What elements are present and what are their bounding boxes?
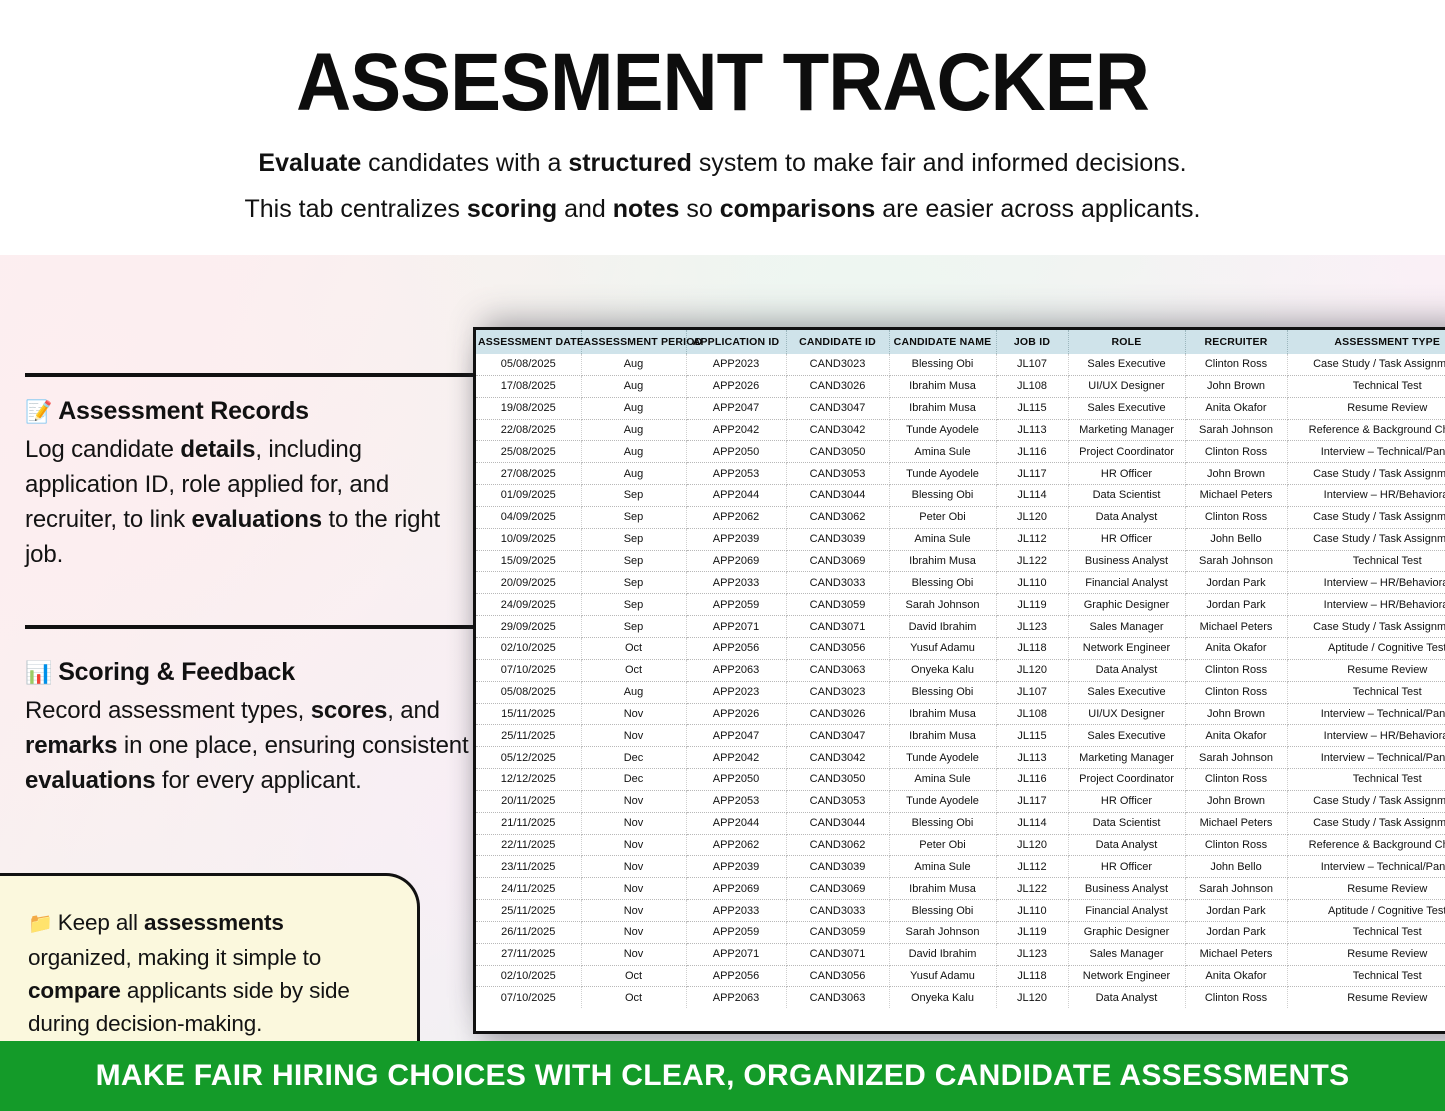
cell-4[interactable]: CAND3069 [786, 878, 889, 900]
cell-5[interactable]: Tunde Ayodele [889, 463, 996, 485]
cell-3[interactable]: APP2039 [686, 528, 786, 550]
cell-1[interactable]: 07/10/2025 [476, 987, 581, 1008]
cell-5[interactable]: Blessing Obi [889, 572, 996, 594]
cell-5[interactable]: Blessing Obi [889, 354, 996, 375]
cell-8[interactable]: Clinton Ross [1185, 506, 1287, 528]
cell-7[interactable]: Data Analyst [1068, 987, 1185, 1008]
cell-6[interactable]: JL114 [996, 812, 1068, 834]
cell-3[interactable]: APP2053 [686, 463, 786, 485]
cell-7[interactable]: Marketing Manager [1068, 419, 1185, 441]
cell-9[interactable]: Technical Test [1287, 769, 1445, 791]
cell-6[interactable]: JL116 [996, 441, 1068, 463]
cell-2[interactable]: Aug [581, 354, 686, 375]
cell-5[interactable]: Blessing Obi [889, 900, 996, 922]
cell-8[interactable]: Clinton Ross [1185, 441, 1287, 463]
cell-6[interactable]: JL110 [996, 900, 1068, 922]
cell-4[interactable]: CAND3053 [786, 463, 889, 485]
cell-5[interactable]: David Ibrahim [889, 616, 996, 638]
cell-3[interactable]: APP2047 [686, 725, 786, 747]
cell-2[interactable]: Oct [581, 659, 686, 681]
cell-1[interactable]: 07/10/2025 [476, 659, 581, 681]
cell-8[interactable]: Anita Okafor [1185, 397, 1287, 419]
cell-8[interactable]: Michael Peters [1185, 943, 1287, 965]
cell-4[interactable]: CAND3033 [786, 900, 889, 922]
cell-7[interactable]: Project Coordinator [1068, 769, 1185, 791]
cell-6[interactable]: JL118 [996, 637, 1068, 659]
cell-4[interactable]: CAND3023 [786, 354, 889, 375]
column-header-1[interactable]: ASSESSMENT DATE [476, 330, 581, 354]
cell-2[interactable]: Sep [581, 616, 686, 638]
cell-7[interactable]: Project Coordinator [1068, 441, 1185, 463]
column-header-9[interactable]: ASSESSMENT TYPE [1287, 330, 1445, 354]
table-row[interactable]: 25/08/2025AugAPP2050CAND3050Amina SuleJL… [476, 441, 1445, 463]
cell-5[interactable]: Ibrahim Musa [889, 550, 996, 572]
cell-2[interactable]: Nov [581, 725, 686, 747]
cell-7[interactable]: HR Officer [1068, 790, 1185, 812]
cell-4[interactable]: CAND3042 [786, 419, 889, 441]
column-header-7[interactable]: ROLE [1068, 330, 1185, 354]
cell-2[interactable]: Aug [581, 441, 686, 463]
table-row[interactable]: 07/10/2025OctAPP2063CAND3063Onyeka KaluJ… [476, 987, 1445, 1008]
cell-1[interactable]: 15/11/2025 [476, 703, 581, 725]
cell-4[interactable]: CAND3071 [786, 943, 889, 965]
cell-4[interactable]: CAND3039 [786, 856, 889, 878]
cell-9[interactable]: Interview – HR/Behavioral [1287, 725, 1445, 747]
cell-6[interactable]: JL123 [996, 616, 1068, 638]
table-row[interactable]: 05/08/2025AugAPP2023CAND3023Blessing Obi… [476, 681, 1445, 703]
cell-5[interactable]: Ibrahim Musa [889, 725, 996, 747]
cell-9[interactable]: Interview – Technical/Panel [1287, 703, 1445, 725]
table-row[interactable]: 26/11/2025NovAPP2059CAND3059Sarah Johnso… [476, 921, 1445, 943]
cell-2[interactable]: Aug [581, 463, 686, 485]
cell-5[interactable]: Peter Obi [889, 506, 996, 528]
cell-2[interactable]: Nov [581, 900, 686, 922]
cell-4[interactable]: CAND3023 [786, 681, 889, 703]
cell-1[interactable]: 25/11/2025 [476, 725, 581, 747]
cell-5[interactable]: Sarah Johnson [889, 921, 996, 943]
cell-1[interactable]: 24/09/2025 [476, 594, 581, 616]
cell-6[interactable]: JL115 [996, 725, 1068, 747]
table-body[interactable]: 05/08/2025AugAPP2023CAND3023Blessing Obi… [476, 354, 1445, 1008]
table-row[interactable]: 24/11/2025NovAPP2069CAND3069Ibrahim Musa… [476, 878, 1445, 900]
cell-7[interactable]: HR Officer [1068, 463, 1185, 485]
cell-4[interactable]: CAND3056 [786, 637, 889, 659]
cell-3[interactable]: APP2059 [686, 594, 786, 616]
table-row[interactable]: 19/08/2025AugAPP2047CAND3047Ibrahim Musa… [476, 397, 1445, 419]
cell-8[interactable]: John Brown [1185, 375, 1287, 397]
cell-3[interactable]: APP2044 [686, 485, 786, 507]
table-row[interactable]: 24/09/2025SepAPP2059CAND3059Sarah Johnso… [476, 594, 1445, 616]
cell-2[interactable]: Nov [581, 943, 686, 965]
cell-1[interactable]: 01/09/2025 [476, 485, 581, 507]
cell-1[interactable]: 22/08/2025 [476, 419, 581, 441]
cell-2[interactable]: Aug [581, 397, 686, 419]
table-row[interactable]: 21/11/2025NovAPP2044CAND3044Blessing Obi… [476, 812, 1445, 834]
cell-6[interactable]: JL117 [996, 790, 1068, 812]
cell-3[interactable]: APP2056 [686, 965, 786, 987]
cell-6[interactable]: JL120 [996, 987, 1068, 1008]
cell-6[interactable]: JL110 [996, 572, 1068, 594]
cell-6[interactable]: JL114 [996, 485, 1068, 507]
cell-4[interactable]: CAND3059 [786, 594, 889, 616]
cell-7[interactable]: Sales Manager [1068, 943, 1185, 965]
cell-3[interactable]: APP2033 [686, 572, 786, 594]
cell-9[interactable]: Resume Review [1287, 943, 1445, 965]
cell-8[interactable]: John Bello [1185, 856, 1287, 878]
cell-5[interactable]: Tunde Ayodele [889, 419, 996, 441]
cell-4[interactable]: CAND3062 [786, 834, 889, 856]
cell-7[interactable]: Data Analyst [1068, 659, 1185, 681]
cell-9[interactable]: Technical Test [1287, 681, 1445, 703]
cell-1[interactable]: 04/09/2025 [476, 506, 581, 528]
cell-6[interactable]: JL107 [996, 681, 1068, 703]
cell-4[interactable]: CAND3026 [786, 375, 889, 397]
cell-2[interactable]: Oct [581, 965, 686, 987]
cell-5[interactable]: Yusuf Adamu [889, 637, 996, 659]
table-row[interactable]: 01/09/2025SepAPP2044CAND3044Blessing Obi… [476, 485, 1445, 507]
cell-5[interactable]: Sarah Johnson [889, 594, 996, 616]
cell-8[interactable]: Clinton Ross [1185, 987, 1287, 1008]
cell-1[interactable]: 05/08/2025 [476, 681, 581, 703]
cell-4[interactable]: CAND3062 [786, 506, 889, 528]
cell-2[interactable]: Nov [581, 921, 686, 943]
cell-9[interactable]: Case Study / Task Assignment [1287, 528, 1445, 550]
cell-1[interactable]: 27/08/2025 [476, 463, 581, 485]
assessment-table[interactable]: ASSESSMENT DATEASSESSMENT PERIODAPPLICAT… [476, 330, 1445, 1008]
cell-7[interactable]: Sales Executive [1068, 681, 1185, 703]
cell-2[interactable]: Sep [581, 572, 686, 594]
cell-9[interactable]: Technical Test [1287, 550, 1445, 572]
table-row[interactable]: 27/11/2025NovAPP2071CAND3071David Ibrahi… [476, 943, 1445, 965]
cell-7[interactable]: HR Officer [1068, 528, 1185, 550]
table-row[interactable]: 22/11/2025NovAPP2062CAND3062Peter ObiJL1… [476, 834, 1445, 856]
cell-9[interactable]: Aptitude / Cognitive Test [1287, 900, 1445, 922]
cell-5[interactable]: Tunde Ayodele [889, 747, 996, 769]
cell-1[interactable]: 21/11/2025 [476, 812, 581, 834]
cell-9[interactable]: Interview – HR/Behavioral [1287, 572, 1445, 594]
column-header-8[interactable]: RECRUITER [1185, 330, 1287, 354]
cell-7[interactable]: Marketing Manager [1068, 747, 1185, 769]
cell-8[interactable]: Sarah Johnson [1185, 550, 1287, 572]
cell-5[interactable]: Amina Sule [889, 769, 996, 791]
cell-9[interactable]: Case Study / Task Assignment [1287, 616, 1445, 638]
cell-9[interactable]: Resume Review [1287, 878, 1445, 900]
table-row[interactable]: 07/10/2025OctAPP2063CAND3063Onyeka KaluJ… [476, 659, 1445, 681]
cell-3[interactable]: APP2071 [686, 943, 786, 965]
cell-5[interactable]: Blessing Obi [889, 681, 996, 703]
cell-3[interactable]: APP2062 [686, 834, 786, 856]
cell-9[interactable]: Technical Test [1287, 921, 1445, 943]
cell-3[interactable]: APP2033 [686, 900, 786, 922]
cell-5[interactable]: Yusuf Adamu [889, 965, 996, 987]
cell-5[interactable]: Blessing Obi [889, 485, 996, 507]
cell-7[interactable]: Business Analyst [1068, 550, 1185, 572]
table-row[interactable]: 05/08/2025AugAPP2023CAND3023Blessing Obi… [476, 354, 1445, 375]
cell-6[interactable]: JL119 [996, 594, 1068, 616]
table-row[interactable]: 20/11/2025NovAPP2053CAND3053Tunde Ayodel… [476, 790, 1445, 812]
cell-4[interactable]: CAND3039 [786, 528, 889, 550]
cell-9[interactable]: Resume Review [1287, 659, 1445, 681]
table-row[interactable]: 20/09/2025SepAPP2033CAND3033Blessing Obi… [476, 572, 1445, 594]
cell-9[interactable]: Case Study / Task Assignment [1287, 790, 1445, 812]
cell-6[interactable]: JL112 [996, 528, 1068, 550]
table-row[interactable]: 04/09/2025SepAPP2062CAND3062Peter ObiJL1… [476, 506, 1445, 528]
cell-2[interactable]: Dec [581, 747, 686, 769]
cell-9[interactable]: Technical Test [1287, 375, 1445, 397]
cell-1[interactable]: 19/08/2025 [476, 397, 581, 419]
cell-6[interactable]: JL107 [996, 354, 1068, 375]
cell-7[interactable]: UI/UX Designer [1068, 375, 1185, 397]
table-row[interactable]: 15/11/2025NovAPP2026CAND3026Ibrahim Musa… [476, 703, 1445, 725]
cell-3[interactable]: APP2050 [686, 441, 786, 463]
cell-8[interactable]: John Brown [1185, 463, 1287, 485]
cell-1[interactable]: 15/09/2025 [476, 550, 581, 572]
cell-6[interactable]: JL108 [996, 375, 1068, 397]
cell-3[interactable]: APP2059 [686, 921, 786, 943]
cell-4[interactable]: CAND3044 [786, 812, 889, 834]
cell-9[interactable]: Aptitude / Cognitive Test [1287, 637, 1445, 659]
column-header-6[interactable]: JOB ID [996, 330, 1068, 354]
cell-7[interactable]: Data Analyst [1068, 834, 1185, 856]
cell-8[interactable]: Michael Peters [1185, 485, 1287, 507]
cell-3[interactable]: APP2042 [686, 747, 786, 769]
cell-9[interactable]: Case Study / Task Assignment [1287, 812, 1445, 834]
cell-6[interactable]: JL113 [996, 419, 1068, 441]
cell-8[interactable]: Clinton Ross [1185, 834, 1287, 856]
cell-8[interactable]: John Brown [1185, 790, 1287, 812]
cell-2[interactable]: Nov [581, 878, 686, 900]
cell-3[interactable]: APP2063 [686, 659, 786, 681]
cell-7[interactable]: Network Engineer [1068, 637, 1185, 659]
cell-9[interactable]: Reference & Background Check [1287, 834, 1445, 856]
cell-4[interactable]: CAND3063 [786, 987, 889, 1008]
cell-3[interactable]: APP2023 [686, 354, 786, 375]
cell-5[interactable]: Ibrahim Musa [889, 878, 996, 900]
cell-3[interactable]: APP2069 [686, 878, 786, 900]
cell-4[interactable]: CAND3063 [786, 659, 889, 681]
cell-9[interactable]: Case Study / Task Assignment [1287, 506, 1445, 528]
cell-3[interactable]: APP2047 [686, 397, 786, 419]
cell-2[interactable]: Nov [581, 812, 686, 834]
cell-1[interactable]: 10/09/2025 [476, 528, 581, 550]
cell-2[interactable]: Aug [581, 375, 686, 397]
cell-6[interactable]: JL108 [996, 703, 1068, 725]
cell-1[interactable]: 22/11/2025 [476, 834, 581, 856]
cell-3[interactable]: APP2071 [686, 616, 786, 638]
cell-3[interactable]: APP2056 [686, 637, 786, 659]
cell-6[interactable]: JL123 [996, 943, 1068, 965]
cell-8[interactable]: Michael Peters [1185, 812, 1287, 834]
cell-3[interactable]: APP2069 [686, 550, 786, 572]
cell-8[interactable]: Sarah Johnson [1185, 419, 1287, 441]
cell-7[interactable]: Sales Executive [1068, 725, 1185, 747]
cell-2[interactable]: Sep [581, 594, 686, 616]
cell-6[interactable]: JL116 [996, 769, 1068, 791]
table-row[interactable]: 29/09/2025SepAPP2071CAND3071David Ibrahi… [476, 616, 1445, 638]
table-row[interactable]: 27/08/2025AugAPP2053CAND3053Tunde Ayodel… [476, 463, 1445, 485]
cell-6[interactable]: JL120 [996, 659, 1068, 681]
table-row[interactable]: 17/08/2025AugAPP2026CAND3026Ibrahim Musa… [476, 375, 1445, 397]
table-row[interactable]: 23/11/2025NovAPP2039CAND3039Amina SuleJL… [476, 856, 1445, 878]
cell-1[interactable]: 05/12/2025 [476, 747, 581, 769]
cell-5[interactable]: Tunde Ayodele [889, 790, 996, 812]
cell-9[interactable]: Case Study / Task Assignment [1287, 463, 1445, 485]
cell-8[interactable]: Sarah Johnson [1185, 878, 1287, 900]
cell-3[interactable]: APP2039 [686, 856, 786, 878]
cell-3[interactable]: APP2063 [686, 987, 786, 1008]
cell-3[interactable]: APP2042 [686, 419, 786, 441]
cell-4[interactable]: CAND3047 [786, 397, 889, 419]
cell-2[interactable]: Aug [581, 681, 686, 703]
cell-7[interactable]: Business Analyst [1068, 878, 1185, 900]
cell-4[interactable]: CAND3033 [786, 572, 889, 594]
column-header-3[interactable]: APPLICATION ID [686, 330, 786, 354]
cell-7[interactable]: Sales Executive [1068, 397, 1185, 419]
table-row[interactable]: 15/09/2025SepAPP2069CAND3069Ibrahim Musa… [476, 550, 1445, 572]
cell-9[interactable]: Technical Test [1287, 965, 1445, 987]
table-row[interactable]: 22/08/2025AugAPP2042CAND3042Tunde Ayodel… [476, 419, 1445, 441]
cell-5[interactable]: David Ibrahim [889, 943, 996, 965]
cell-3[interactable]: APP2050 [686, 769, 786, 791]
cell-2[interactable]: Nov [581, 856, 686, 878]
cell-7[interactable]: Data Scientist [1068, 485, 1185, 507]
cell-5[interactable]: Amina Sule [889, 856, 996, 878]
cell-4[interactable]: CAND3053 [786, 790, 889, 812]
cell-2[interactable]: Sep [581, 528, 686, 550]
cell-8[interactable]: Jordan Park [1185, 572, 1287, 594]
cell-4[interactable]: CAND3044 [786, 485, 889, 507]
cell-1[interactable]: 25/11/2025 [476, 900, 581, 922]
cell-3[interactable]: APP2053 [686, 790, 786, 812]
cell-5[interactable]: Blessing Obi [889, 812, 996, 834]
cell-3[interactable]: APP2044 [686, 812, 786, 834]
column-header-4[interactable]: CANDIDATE ID [786, 330, 889, 354]
cell-1[interactable]: 27/11/2025 [476, 943, 581, 965]
cell-9[interactable]: Interview – Technical/Panel [1287, 747, 1445, 769]
cell-9[interactable]: Resume Review [1287, 397, 1445, 419]
cell-8[interactable]: Anita Okafor [1185, 965, 1287, 987]
cell-8[interactable]: John Bello [1185, 528, 1287, 550]
table-row[interactable]: 02/10/2025OctAPP2056CAND3056Yusuf AdamuJ… [476, 637, 1445, 659]
cell-3[interactable]: APP2026 [686, 703, 786, 725]
cell-1[interactable]: 17/08/2025 [476, 375, 581, 397]
cell-8[interactable]: Jordan Park [1185, 594, 1287, 616]
cell-8[interactable]: Anita Okafor [1185, 725, 1287, 747]
cell-5[interactable]: Ibrahim Musa [889, 375, 996, 397]
cell-7[interactable]: Financial Analyst [1068, 900, 1185, 922]
table-row[interactable]: 05/12/2025DecAPP2042CAND3042Tunde Ayodel… [476, 747, 1445, 769]
cell-9[interactable]: Interview – Technical/Panel [1287, 856, 1445, 878]
cell-7[interactable]: Data Analyst [1068, 506, 1185, 528]
cell-2[interactable]: Dec [581, 769, 686, 791]
cell-6[interactable]: JL120 [996, 834, 1068, 856]
cell-6[interactable]: JL117 [996, 463, 1068, 485]
cell-2[interactable]: Oct [581, 637, 686, 659]
cell-1[interactable]: 20/11/2025 [476, 790, 581, 812]
cell-8[interactable]: Sarah Johnson [1185, 747, 1287, 769]
cell-1[interactable]: 20/09/2025 [476, 572, 581, 594]
cell-6[interactable]: JL119 [996, 921, 1068, 943]
cell-7[interactable]: Graphic Designer [1068, 594, 1185, 616]
cell-7[interactable]: Graphic Designer [1068, 921, 1185, 943]
cell-7[interactable]: Data Scientist [1068, 812, 1185, 834]
cell-7[interactable]: Network Engineer [1068, 965, 1185, 987]
cell-6[interactable]: JL115 [996, 397, 1068, 419]
cell-9[interactable]: Interview – Technical/Panel [1287, 441, 1445, 463]
cell-5[interactable]: Ibrahim Musa [889, 397, 996, 419]
cell-4[interactable]: CAND3042 [786, 747, 889, 769]
cell-9[interactable]: Reference & Background Check [1287, 419, 1445, 441]
cell-2[interactable]: Nov [581, 834, 686, 856]
cell-9[interactable]: Case Study / Task Assignment [1287, 354, 1445, 375]
cell-3[interactable]: APP2023 [686, 681, 786, 703]
cell-1[interactable]: 26/11/2025 [476, 921, 581, 943]
cell-8[interactable]: Jordan Park [1185, 921, 1287, 943]
cell-4[interactable]: CAND3047 [786, 725, 889, 747]
cell-4[interactable]: CAND3069 [786, 550, 889, 572]
cell-8[interactable]: Clinton Ross [1185, 354, 1287, 375]
cell-1[interactable]: 24/11/2025 [476, 878, 581, 900]
cell-1[interactable]: 12/12/2025 [476, 769, 581, 791]
cell-4[interactable]: CAND3056 [786, 965, 889, 987]
cell-4[interactable]: CAND3071 [786, 616, 889, 638]
cell-5[interactable]: Peter Obi [889, 834, 996, 856]
cell-7[interactable]: Financial Analyst [1068, 572, 1185, 594]
cell-9[interactable]: Interview – HR/Behavioral [1287, 594, 1445, 616]
table-row[interactable]: 10/09/2025SepAPP2039CAND3039Amina SuleJL… [476, 528, 1445, 550]
cell-6[interactable]: JL113 [996, 747, 1068, 769]
cell-6[interactable]: JL120 [996, 506, 1068, 528]
cell-6[interactable]: JL122 [996, 878, 1068, 900]
cell-5[interactable]: Ibrahim Musa [889, 703, 996, 725]
cell-2[interactable]: Oct [581, 987, 686, 1008]
cell-4[interactable]: CAND3050 [786, 441, 889, 463]
cell-2[interactable]: Nov [581, 703, 686, 725]
table-row[interactable]: 25/11/2025NovAPP2047CAND3047Ibrahim Musa… [476, 725, 1445, 747]
cell-2[interactable]: Sep [581, 485, 686, 507]
cell-8[interactable]: Clinton Ross [1185, 769, 1287, 791]
cell-6[interactable]: JL122 [996, 550, 1068, 572]
cell-5[interactable]: Onyeka Kalu [889, 659, 996, 681]
cell-1[interactable]: 05/08/2025 [476, 354, 581, 375]
cell-7[interactable]: HR Officer [1068, 856, 1185, 878]
cell-7[interactable]: Sales Executive [1068, 354, 1185, 375]
cell-7[interactable]: UI/UX Designer [1068, 703, 1185, 725]
cell-3[interactable]: APP2026 [686, 375, 786, 397]
cell-4[interactable]: CAND3059 [786, 921, 889, 943]
cell-6[interactable]: JL112 [996, 856, 1068, 878]
cell-1[interactable]: 25/08/2025 [476, 441, 581, 463]
cell-2[interactable]: Sep [581, 550, 686, 572]
table-row[interactable]: 12/12/2025DecAPP2050CAND3050Amina SuleJL… [476, 769, 1445, 791]
cell-9[interactable]: Resume Review [1287, 987, 1445, 1008]
cell-1[interactable]: 02/10/2025 [476, 637, 581, 659]
column-header-5[interactable]: CANDIDATE NAME [889, 330, 996, 354]
cell-8[interactable]: John Brown [1185, 703, 1287, 725]
cell-2[interactable]: Nov [581, 790, 686, 812]
cell-4[interactable]: CAND3050 [786, 769, 889, 791]
column-header-2[interactable]: ASSESSMENT PERIOD [581, 330, 686, 354]
cell-7[interactable]: Sales Manager [1068, 616, 1185, 638]
cell-8[interactable]: Anita Okafor [1185, 637, 1287, 659]
cell-8[interactable]: Michael Peters [1185, 616, 1287, 638]
cell-3[interactable]: APP2062 [686, 506, 786, 528]
spreadsheet-card[interactable]: ASSESSMENT DATEASSESSMENT PERIODAPPLICAT… [473, 327, 1445, 1034]
table-row[interactable]: 02/10/2025OctAPP2056CAND3056Yusuf AdamuJ… [476, 965, 1445, 987]
cell-2[interactable]: Sep [581, 506, 686, 528]
cell-8[interactable]: Clinton Ross [1185, 681, 1287, 703]
table-row[interactable]: 25/11/2025NovAPP2033CAND3033Blessing Obi… [476, 900, 1445, 922]
